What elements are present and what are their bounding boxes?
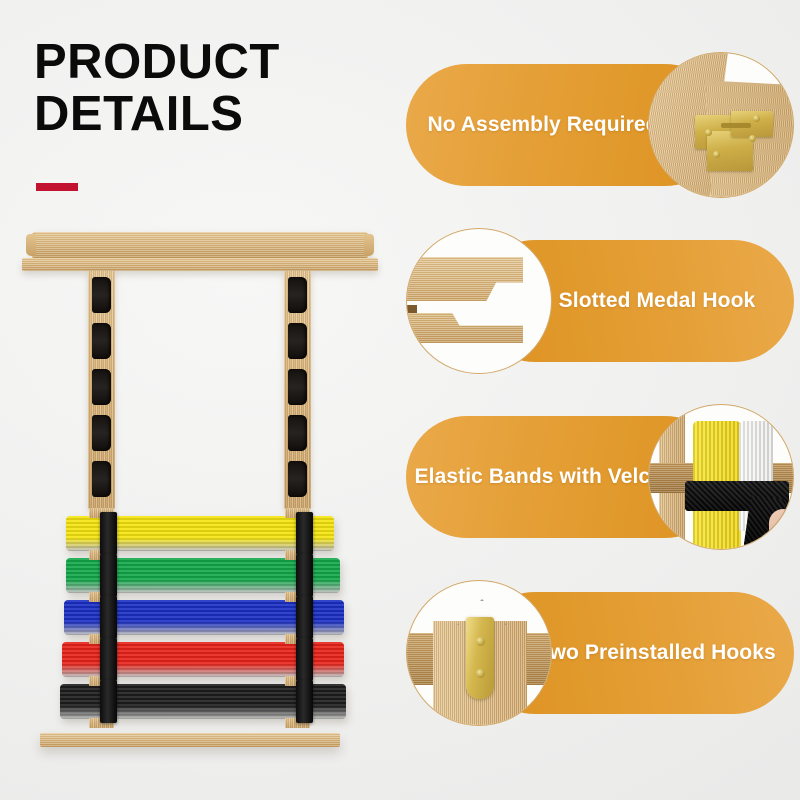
elastic-band-slot [288,415,307,451]
velcro-strap [100,680,117,723]
elastic-band-slot [92,369,111,405]
feature-two-preinstalled-hooks[interactable]: Two Preinstalled Hooks [406,580,794,726]
vertical-rail-left [88,271,115,509]
feature-label: Slotted Medal Hook [559,289,756,314]
feature-slotted-medal-hook[interactable]: Slotted Medal Hook [406,228,794,374]
hinge-screw [749,135,756,142]
velcro-strap [296,512,313,555]
shelf-profile-upper [406,257,523,301]
feature-label: No Assembly Required [427,113,658,138]
hinge-screw [705,129,712,136]
elastic-band-slot [92,415,111,451]
elastic-band-slot [288,323,307,359]
red-accent-dash [36,183,78,191]
hand-fingers [769,509,794,543]
velcro-strap [100,512,117,555]
shelf-profile-lower [406,313,523,343]
velcro-strap [296,554,313,597]
elastic-band-slot [288,369,307,405]
hook-screw [476,637,485,646]
product-photo-belt-rack [14,228,386,773]
slot-opening [406,305,417,313]
elastic-band-slot [92,461,111,497]
velcro-strap [100,554,117,597]
velcro-strap [296,680,313,723]
page-title-line-1: PRODUCT [34,38,374,86]
velcro-strap-belt-photo [648,404,794,550]
brass-hook-plate [466,617,494,699]
vertical-rail-right [284,271,311,509]
elastic-band-slot [92,277,111,313]
hook-screw [476,669,485,678]
feature-label: Elastic Bands with Velcro [415,465,672,490]
elastic-band-slot [288,461,307,497]
velcro-strap [100,638,117,681]
velcro-strap [296,638,313,681]
velcro-strap [100,596,117,639]
slotted-shelf-profile-photo [406,228,552,374]
brass-hanging-hook-photo [406,580,552,726]
hinge-screw [713,151,720,158]
bottom-rail [40,733,340,747]
page-title-line-2: DETAILS [34,90,374,138]
elastic-band-slot [288,277,307,313]
feature-elastic-bands-with-velcro[interactable]: Elastic Bands with Velcro [406,404,794,550]
hinge-knuckle [721,123,751,128]
brass-hinge-photo [648,52,794,198]
velcro-strap [296,596,313,639]
feature-label: Two Preinstalled Hooks [538,641,776,666]
feature-no-assembly-required[interactable]: No Assembly Required [406,52,794,198]
crown-molding-shelf [32,232,368,258]
elastic-band-slot [92,323,111,359]
hinge-screw [753,115,760,122]
product-details-infographic: PRODUCT DETAILS [0,0,800,800]
page-title: PRODUCT DETAILS [34,38,374,138]
under-shelf-trim [22,258,378,271]
